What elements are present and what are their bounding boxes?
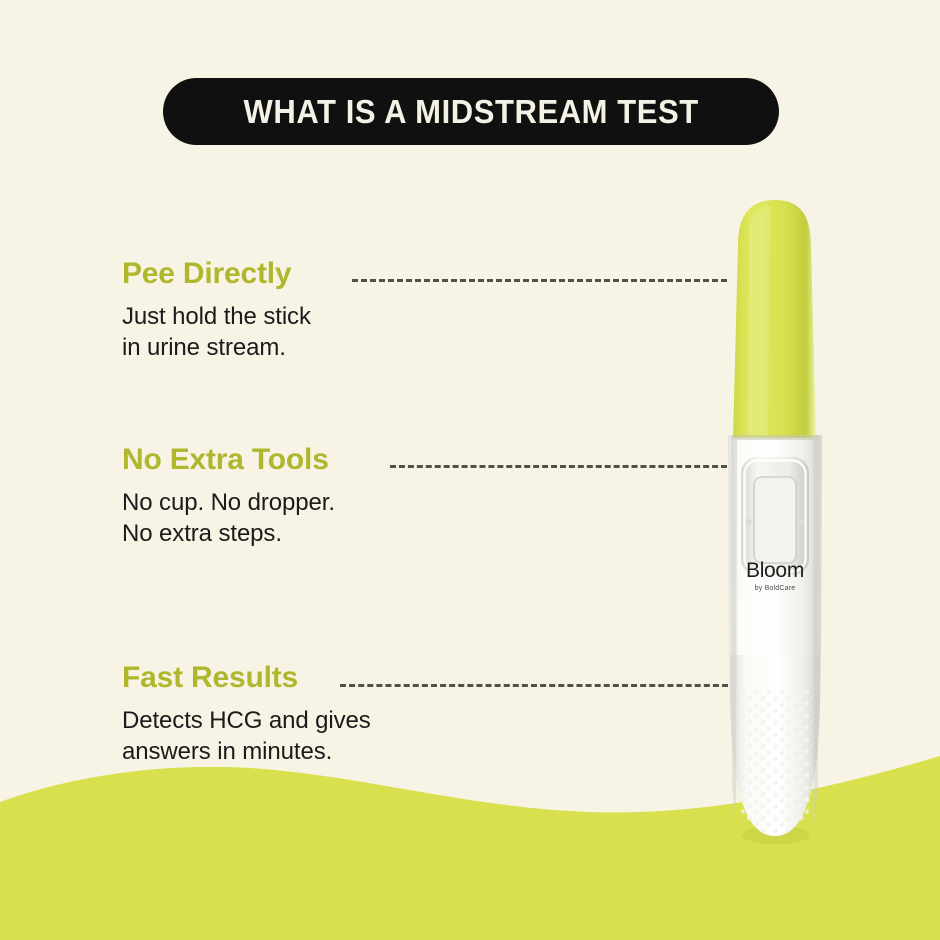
- feature-heading: Pee Directly: [122, 258, 311, 290]
- feature-block-pee-directly: Pee Directly Just hold the stick in urin…: [122, 258, 311, 364]
- infographic-canvas: WHAT IS A MIDSTREAM TEST Pee Directly Ju…: [0, 0, 940, 940]
- feature-body: Detects HCG and gives answers in minutes…: [122, 694, 371, 769]
- connector-line-no-extra-tools: [390, 465, 727, 468]
- feature-block-no-extra-tools: No Extra Tools No cup. No dropper. No ex…: [122, 444, 335, 550]
- feature-heading: Fast Results: [122, 662, 371, 694]
- page-title-banner: WHAT IS A MIDSTREAM TEST: [163, 78, 779, 145]
- feature-block-fast-results: Fast Results Detects HCG and gives answe…: [122, 662, 371, 768]
- page-title: WHAT IS A MIDSTREAM TEST: [243, 95, 698, 128]
- connector-line-pee-directly: [352, 279, 727, 282]
- feature-body: No cup. No dropper. No extra steps.: [122, 476, 335, 551]
- feature-heading: No Extra Tools: [122, 444, 335, 476]
- feature-body: Just hold the stick in urine stream.: [122, 290, 311, 365]
- connector-line-fast-results: [340, 684, 728, 687]
- pregnancy-test-device: [700, 185, 850, 850]
